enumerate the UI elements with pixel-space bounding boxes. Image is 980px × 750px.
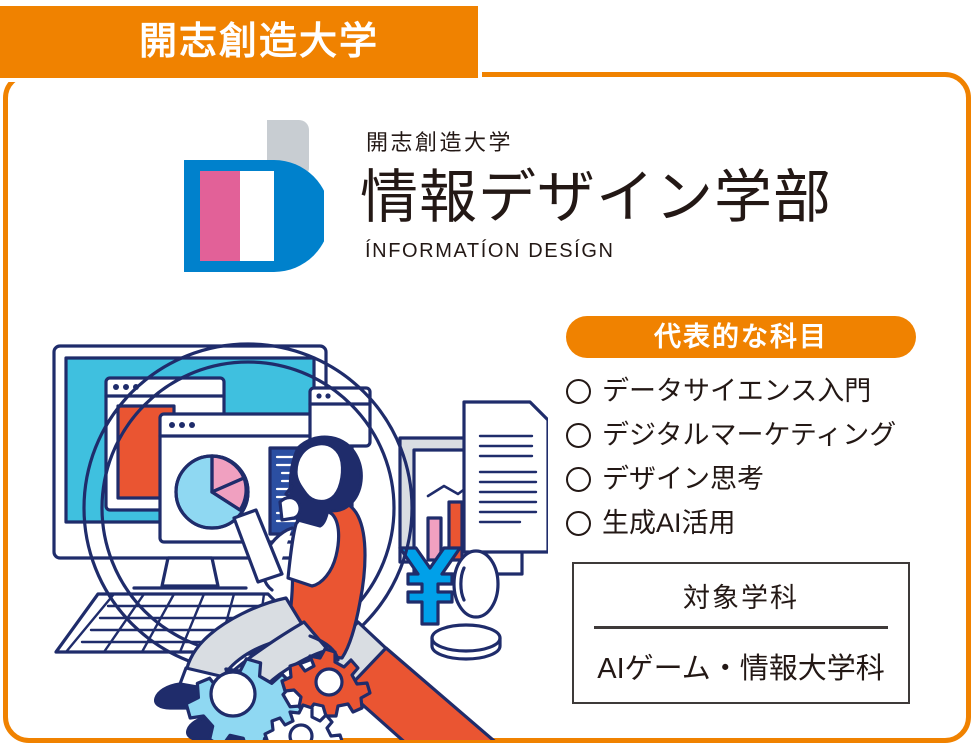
- course-list: データサイエンス入門 デジタルマーケティング デザイン思考 生成AI活用: [566, 374, 926, 540]
- bullet-circle-icon: [566, 379, 591, 404]
- course-list-item: デジタルマーケティング: [566, 418, 926, 452]
- course-list-item: 生成AI活用: [566, 506, 926, 540]
- representative-courses-badge: 代表的な科目: [566, 316, 916, 358]
- target-department-box: 対象学科 AIゲーム・情報大学科: [572, 562, 910, 704]
- university-title-tab: 開志創造大学: [0, 6, 478, 78]
- bullet-circle-icon: [566, 423, 591, 448]
- id-logo-mark: [172, 112, 324, 280]
- course-label: デジタルマーケティング: [602, 422, 896, 449]
- course-list-item: データサイエンス入門: [566, 374, 926, 408]
- course-label: デザイン思考: [602, 466, 764, 493]
- logo-faculty-name: 情報デザイン学部: [360, 168, 880, 229]
- bullet-circle-icon: [566, 511, 591, 536]
- logo-text-lockup: 開志創造大学 情報デザイン学部 ÍNFORMATÍON DESÍGN: [360, 108, 880, 261]
- courses-panel: 代表的な科目 データサイエンス入門 デジタルマーケティング デザイン思考 生成A…: [566, 316, 926, 550]
- representative-courses-badge-label: 代表的な科目: [654, 324, 828, 351]
- course-label: 生成AI活用: [602, 510, 736, 537]
- bullet-circle-icon: [566, 467, 591, 492]
- logo-university-name: 開志創造大学: [366, 132, 880, 154]
- logo-english-name: ÍNFORMATÍON DESÍGN: [365, 241, 880, 261]
- target-department-value: AIゲーム・情報大学科: [574, 629, 908, 703]
- university-title-text: 開志創造大学: [139, 23, 379, 61]
- poster-root: 開志創造大学 開志創造大学 情報デザイン学部 Í: [0, 0, 980, 750]
- faculty-logo: 開志創造大学 情報デザイン学部 ÍNFORMATÍON DESÍGN: [172, 108, 872, 288]
- data-analysis-magnifier-illustration: [48, 296, 548, 740]
- course-label: データサイエンス入門: [602, 378, 871, 405]
- course-list-item: デザイン思考: [566, 462, 926, 496]
- target-department-heading: 対象学科: [574, 564, 908, 626]
- text-document: [464, 402, 548, 552]
